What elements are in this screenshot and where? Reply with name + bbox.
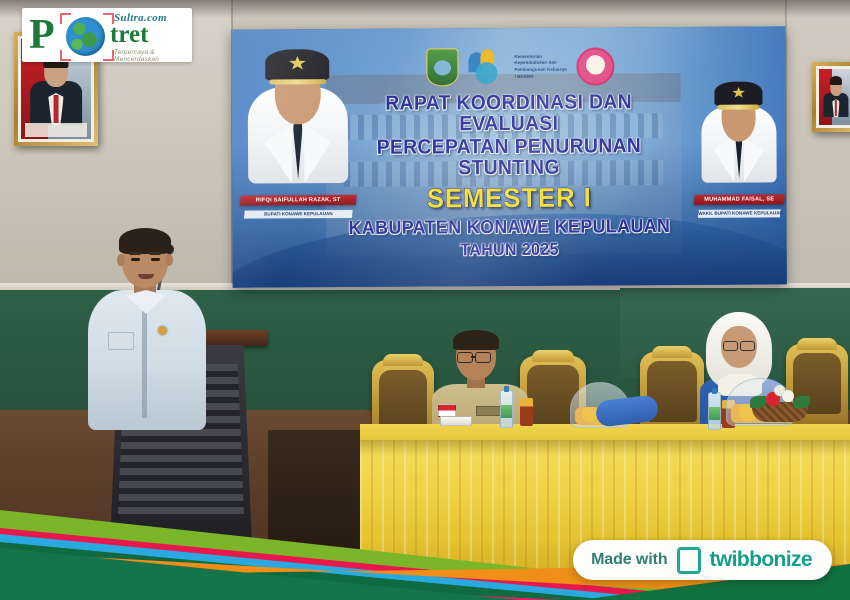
bkkbn-logo-icon [466,48,506,86]
chair-crown [797,338,837,350]
twibbonize-badge[interactable]: Made with twibbonize [573,540,832,580]
stunting-program-logo-icon [576,47,614,85]
portrait-photo [819,69,850,125]
eyeglasses-icon [723,341,738,351]
leader-peci-cap [265,49,330,80]
banner-leader-wakil-bupati: MUHAMMAD FAISAL, SE WAKIL BUPATI KONAWE … [699,70,778,206]
frame-mat [816,66,850,128]
leader-name: MUHAMMAD FAISAL, SE [696,196,782,204]
portrait-caption [25,123,87,137]
podium-speaker [88,228,206,428]
water-bottle-icon [500,390,513,428]
chair-crown [532,350,574,362]
cap-emblem-icon [289,56,306,70]
eyeglasses-icon [740,341,755,351]
juice-bottle-icon [520,398,533,426]
cap-emblem-icon [732,87,745,98]
wall-right-panel [786,0,850,300]
speaker-eyebrow [149,252,161,255]
document-stack-icon [440,416,472,426]
chair-crown [383,354,423,366]
twibbonize-brand-label: twibbonize [710,548,813,572]
banner-year: TAHUN 2025 [336,240,684,260]
name-tag [476,406,502,416]
logo-tagline: Terpercaya & Mencerdaskan [114,49,192,62]
leader-name: RIFQI SAIFULLAH RAZAK, ST [242,197,354,205]
portrait-tie [54,95,59,123]
leader-peci-cap [714,81,763,106]
event-banner: Kementerian Kependudukan dan Pembangunan… [231,26,787,287]
lapel-badge-icon [158,326,167,335]
shirt-pocket [108,332,134,350]
screenshot-root: Kementerian Kependudukan dan Pembangunan… [0,0,850,600]
crop-mark-icon [60,13,71,24]
leader-nameplate: MUHAMMAD FAISAL, SE [694,194,785,205]
water-bottle-icon [708,392,721,430]
bottle-label [501,405,512,417]
made-with-label: Made with [591,551,667,569]
speaker-mouth [138,274,154,279]
regency-crest-icon [426,48,458,86]
podium-base [158,540,204,582]
official-hair [453,330,499,350]
speaker-eye [131,258,140,261]
bottle-label [709,407,720,419]
portrait-hair [830,76,842,85]
banner-leader-bupati: RIFQI SAIFULLAH RAZAK, ST BUPATI KONAWE … [245,35,350,208]
chair-crown [652,346,693,358]
speaker-eyebrow [129,252,141,255]
leader-title: BUPATI KONAWE KEPULAUAN [244,210,352,216]
potret-sultra-watermark-logo[interactable]: P Sultra.com tret Terpercaya & Mencerdas… [22,8,192,62]
eyeglasses-bridge [471,356,475,358]
speaker-ear [117,254,125,266]
banner-headline-line2: PERCEPATAN PENURUNAN STUNTING [335,135,683,180]
leader-title-strip: WAKIL BUPATI KONAWE KEPULAUAN [698,209,781,217]
globe-icon [66,17,105,56]
twibbonize-square-icon [677,547,701,574]
stage-shadow-block [268,430,364,570]
banner-logo-row: Kementerian Kependudukan dan Pembangunan… [426,43,616,90]
banner-region: KABUPATEN KONAWE KEPULAUAN [335,217,683,239]
banner-semester: SEMESTER I [333,182,685,215]
leader-title: WAKIL BUPATI KONAWE KEPULAUAN [698,210,780,216]
leader-nameplate: RIFQI SAIFULLAH RAZAK, ST [240,195,357,206]
shirt-placket [142,300,147,418]
banner-headline-line1: RAPAT KOORDINASI DAN EVALUASI [335,91,683,136]
logo-letter-p: P [29,14,54,56]
crop-mark-icon [60,50,71,61]
framed-portrait-vice-president [812,62,850,132]
portrait-tie [835,100,837,116]
rose-icon [774,385,785,396]
speaker-ear [165,254,173,266]
speaker-hair [119,228,171,254]
leader-title-strip: BUPATI KONAWE KEPULAUAN [244,209,353,217]
table-top-shadow [360,440,850,456]
flower-basket-icon [744,372,816,422]
leaf-icon [750,396,766,408]
eyeglasses-icon [475,352,491,363]
crop-mark-icon [103,50,114,61]
leaf-icon [794,396,810,408]
logo-tret-word: tret [110,22,148,47]
ministry-text-logo: Kementerian Kependudukan dan Pembangunan… [514,53,568,80]
speaker-eye [151,258,160,261]
